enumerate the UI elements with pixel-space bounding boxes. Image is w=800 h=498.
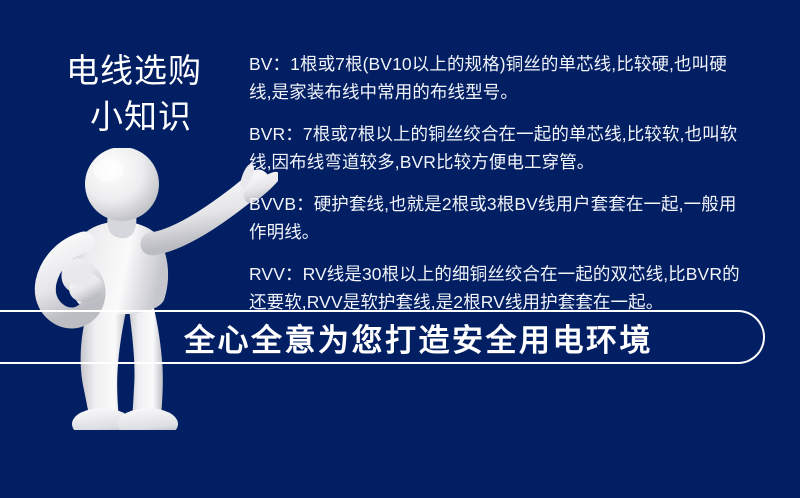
- slogan-text: 全心全意为您打造安全用电环境: [184, 311, 653, 363]
- paragraph-rvv: RVV：RV线是30根以上的细铜丝绞合在一起的双芯线,比BVR的还要软,RVV是…: [249, 260, 749, 316]
- wire-type-description-list: BV：1根或7根(BV10以上的规格)铜丝的单芯线,比较硬,也叫硬线,是家装布线…: [249, 50, 749, 316]
- page-title: 电线选购 小知识: [34, 48, 234, 140]
- page-title-line-1: 电线选购: [34, 48, 234, 94]
- paragraph-bvvb: BVVB：硬护套线,也就是2根或3根BV线用户套套在一起,一般用作明线。: [249, 190, 749, 246]
- mannequin-graphic: [28, 148, 278, 430]
- paragraph-bvr: BVR：7根或7根以上的铜丝绞合在一起的单芯线,比较软,也叫软线,因布线弯道较多…: [249, 120, 749, 176]
- poster-canvas: 电线选购 小知识: [0, 0, 800, 498]
- mannequin-figure-icon: [28, 148, 278, 430]
- page-title-line-2: 小知识: [34, 94, 234, 140]
- paragraph-bv: BV：1根或7根(BV10以上的规格)铜丝的单芯线,比较硬,也叫硬线,是家装布线…: [249, 50, 749, 106]
